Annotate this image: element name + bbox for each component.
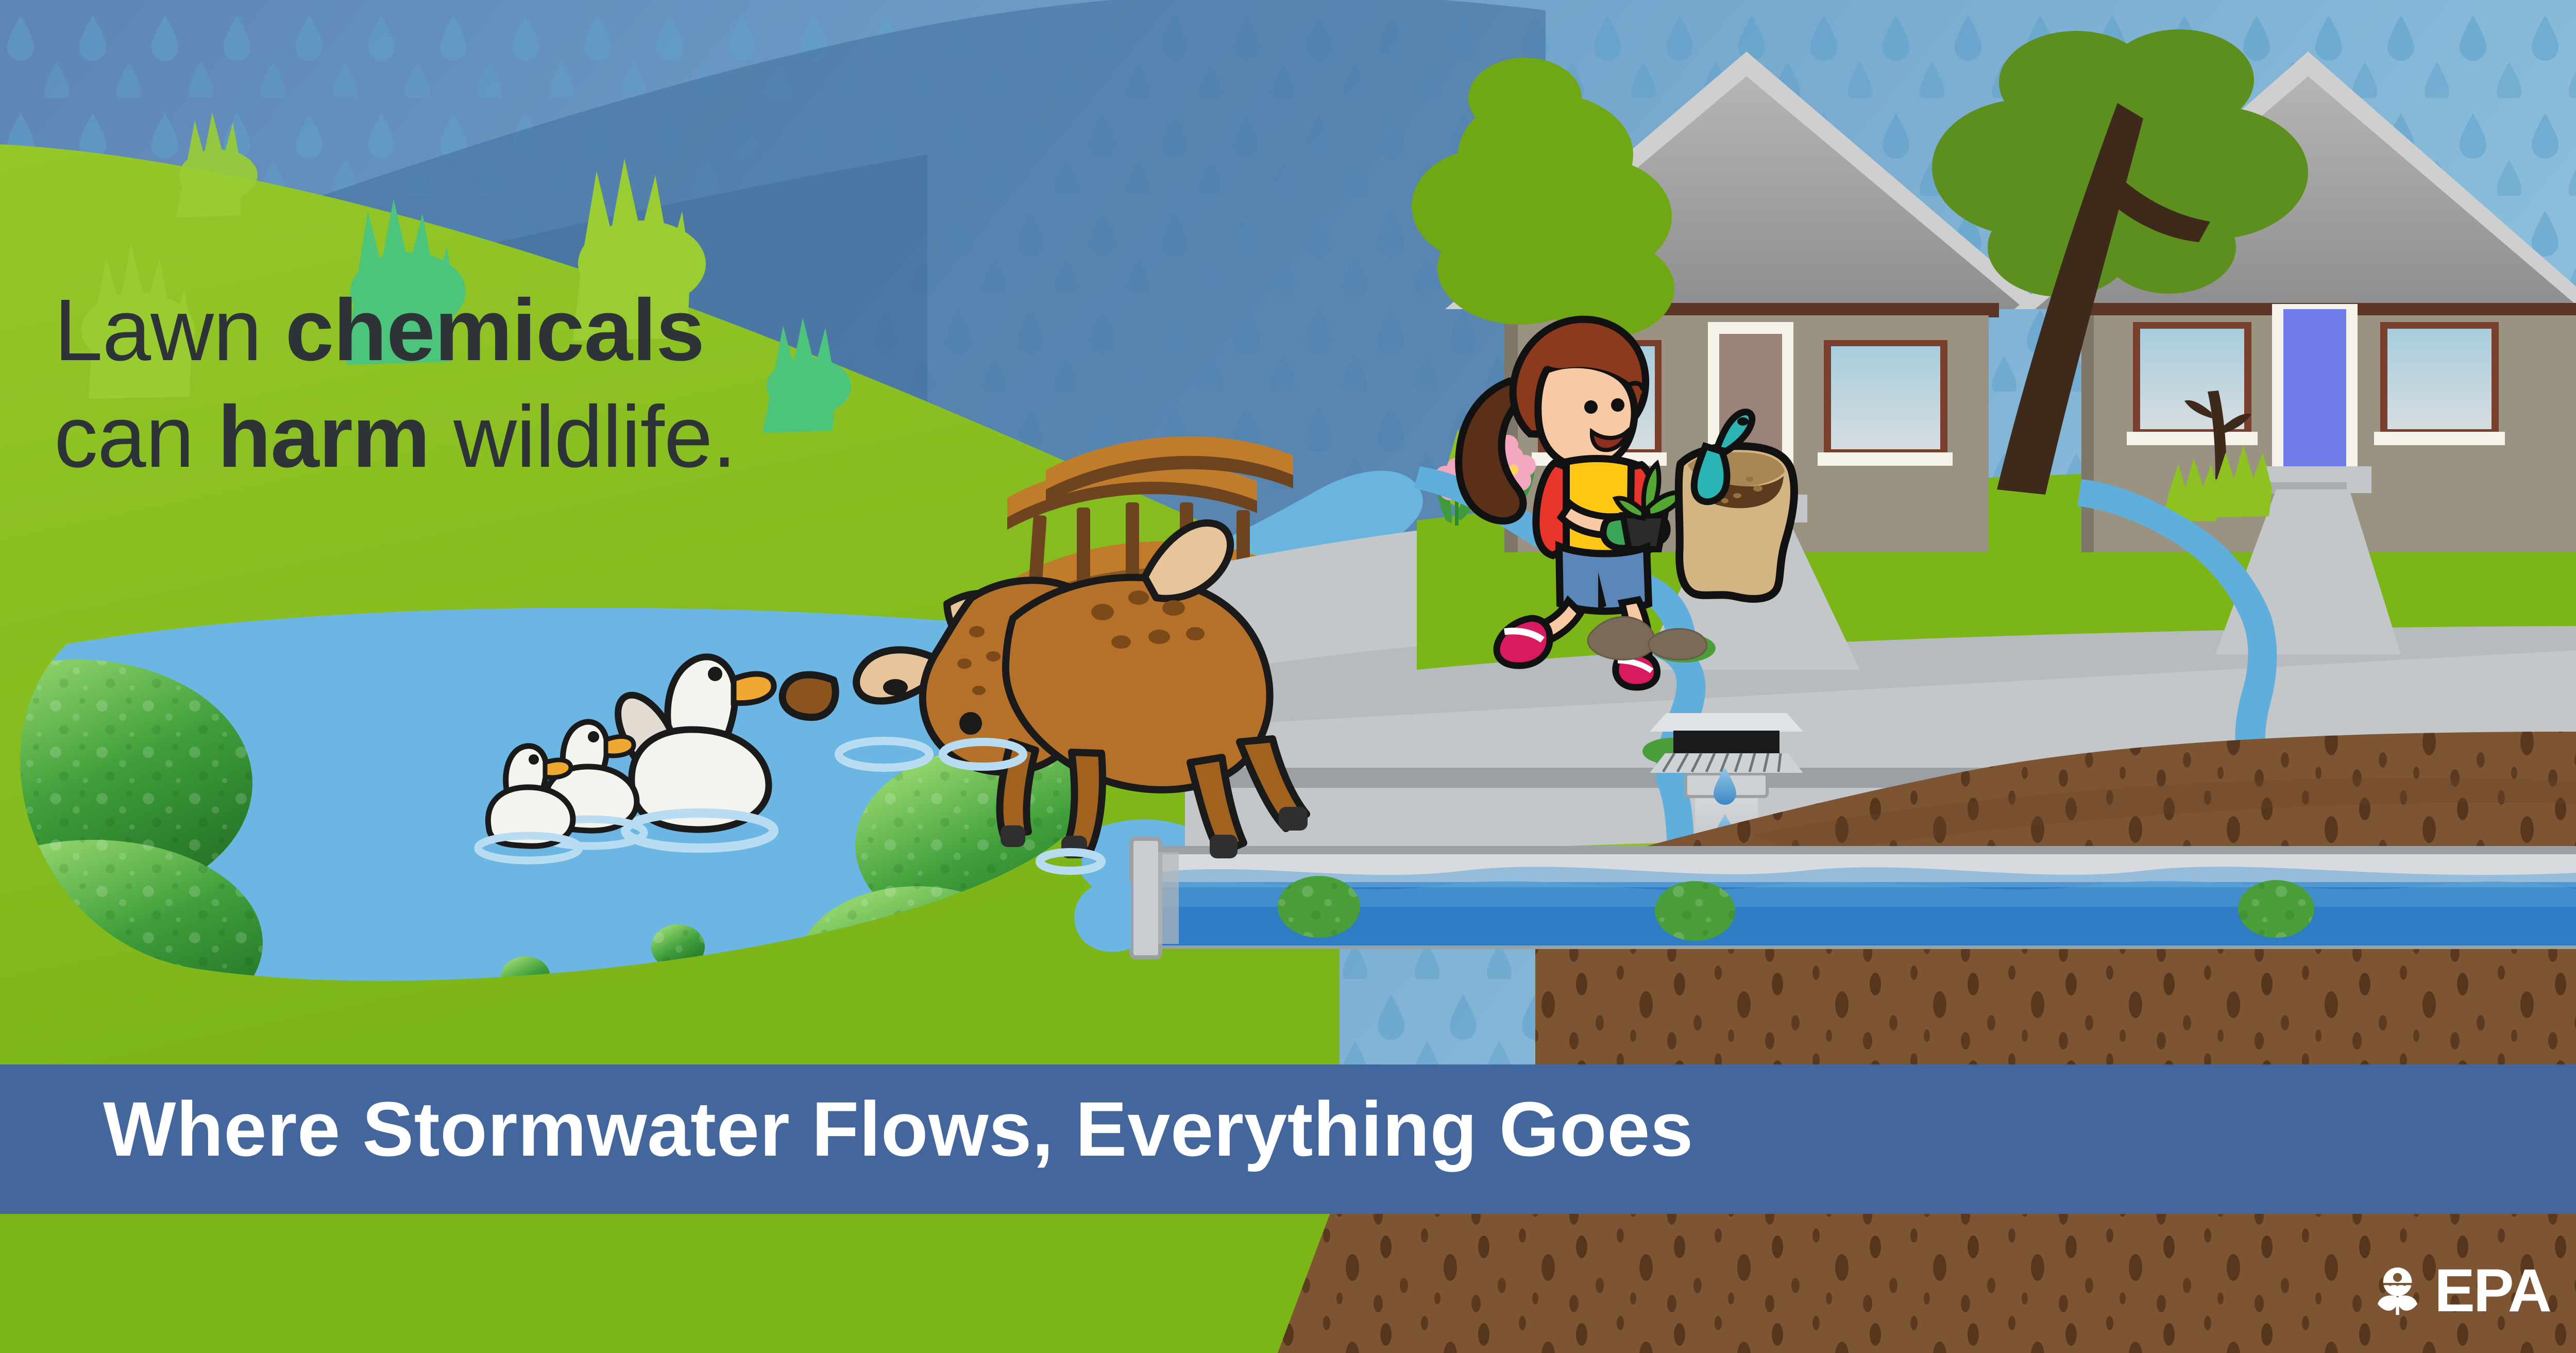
banner-tagline: Where Stormwater Flows, Everything Goes xyxy=(0,1085,2576,1174)
headline-line2-part2: harm xyxy=(217,388,430,486)
epa-flower-seal-icon xyxy=(2370,1259,2425,1322)
headline-line2-part3: wildlife. xyxy=(430,388,736,486)
headline-line1-part2: chemicals xyxy=(285,281,704,379)
epa-logo: EPA xyxy=(2370,1257,2550,1324)
headline: Lawn chemicals can harm wildlife. xyxy=(54,289,1033,479)
stormwater-infographic-poster: Lawn chemicals can harm wildlife. Where … xyxy=(0,0,2576,1353)
headline-line2-part1: can xyxy=(54,388,217,486)
headline-line1-part1: Lawn xyxy=(54,281,285,379)
epa-wordmark: EPA xyxy=(2434,1260,2550,1321)
storm-sewer-pipe xyxy=(1074,839,2576,957)
